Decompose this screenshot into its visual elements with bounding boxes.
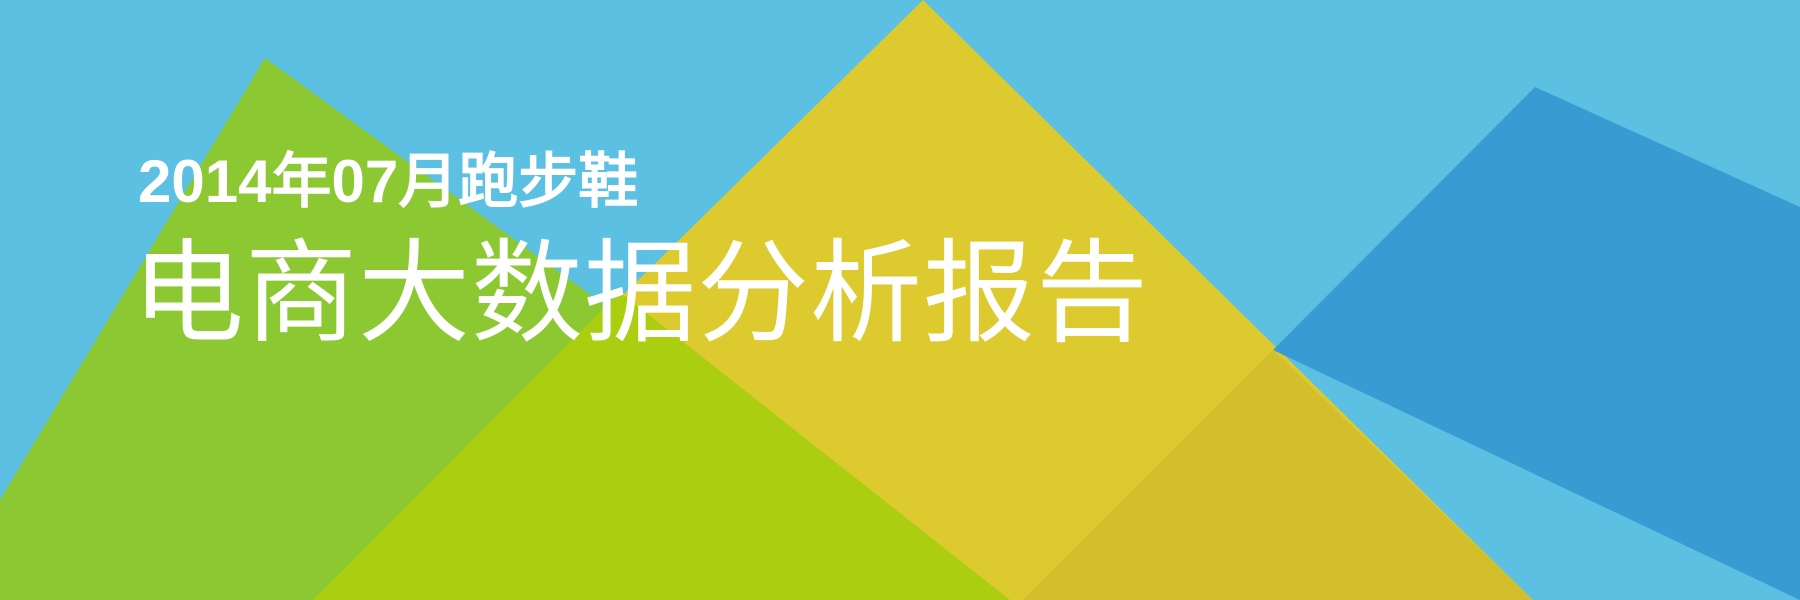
background-graphic bbox=[0, 0, 1800, 600]
poster-banner: 2014年07月跑步鞋 电商大数据分析报告 bbox=[0, 0, 1800, 600]
